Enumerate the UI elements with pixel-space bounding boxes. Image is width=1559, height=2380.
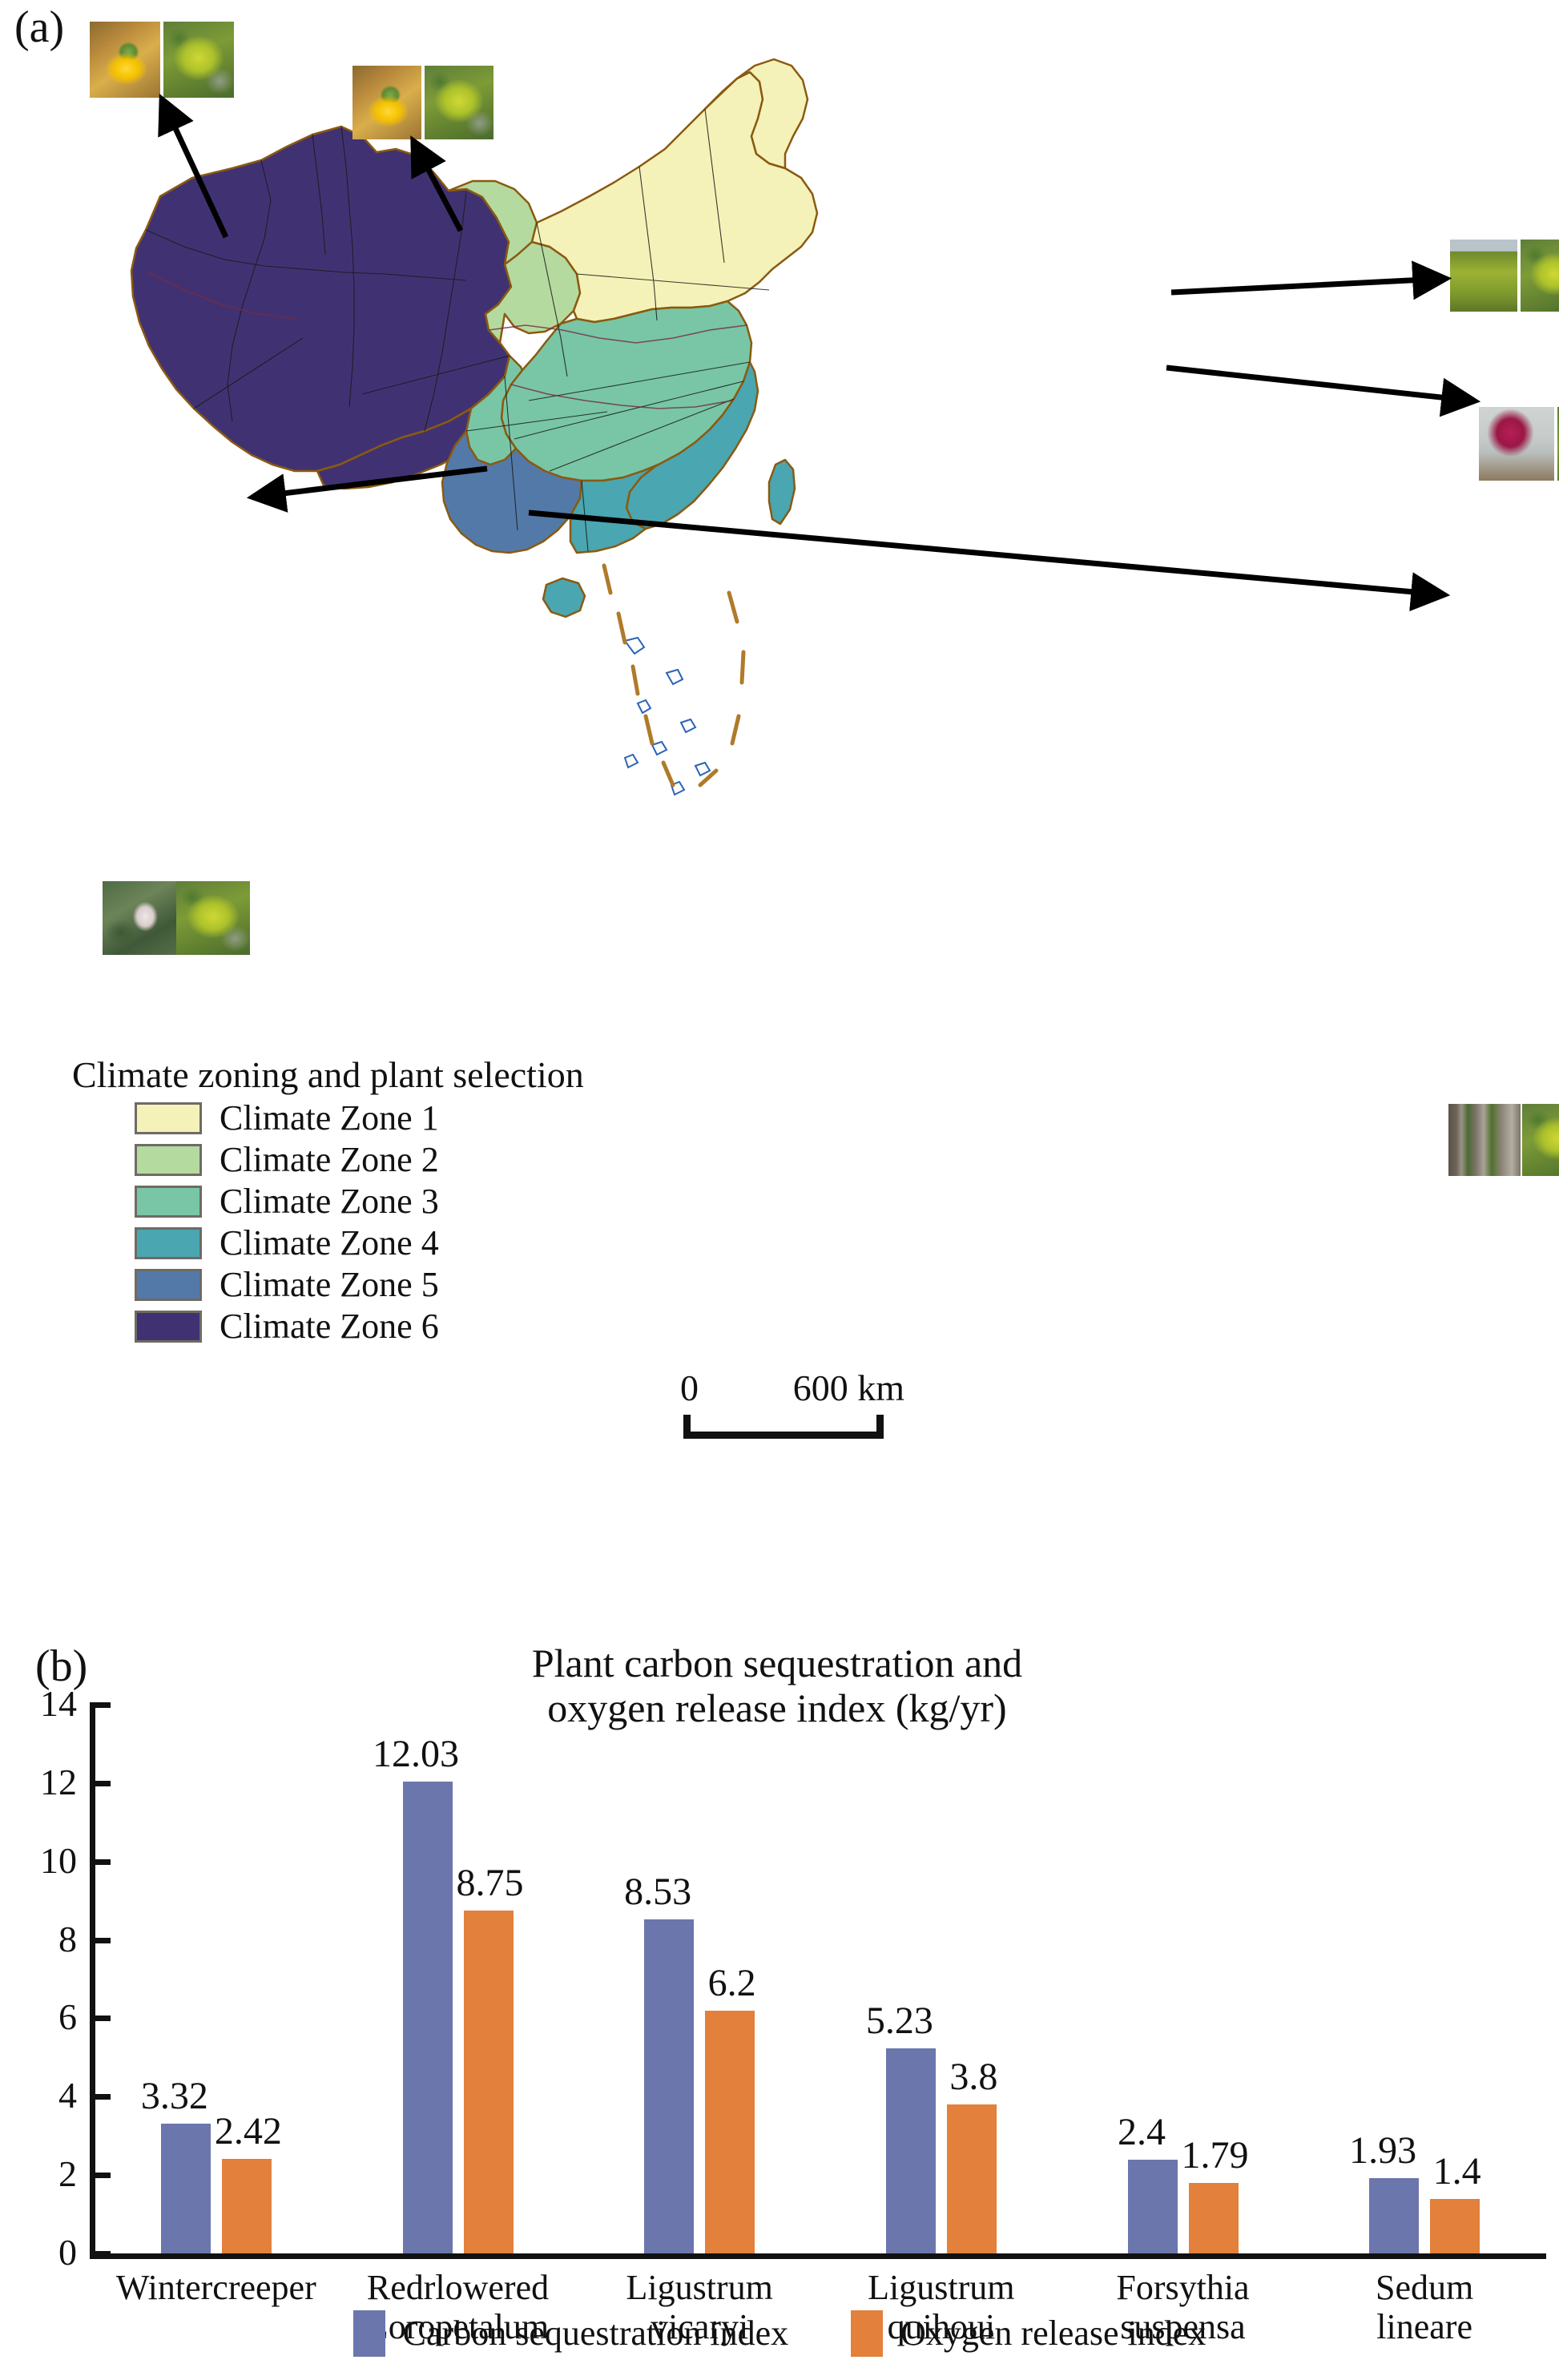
bar-value-carbon-2: 8.53 bbox=[624, 1873, 691, 1911]
bar-value-oxygen-4: 1.79 bbox=[1182, 2136, 1249, 2175]
y-tick-10 bbox=[90, 1859, 111, 1865]
bar-oxygen-2[interactable] bbox=[705, 2011, 755, 2253]
chart-legend-label-oxygen: Oxygen release index bbox=[900, 2316, 1206, 2351]
bar-carbon-0[interactable] bbox=[161, 2124, 211, 2253]
category-label-0: Wintercreeper bbox=[91, 2268, 342, 2307]
bar-carbon-3[interactable] bbox=[886, 2048, 936, 2253]
category-label-4-line-0: Forsythia bbox=[1057, 2268, 1309, 2307]
bar-value-carbon-3: 5.23 bbox=[866, 2002, 933, 2040]
bar-oxygen-1[interactable] bbox=[464, 1911, 514, 2253]
category-label-5-line-0: Sedum bbox=[1299, 2268, 1550, 2307]
y-tick-label-10: 10 bbox=[3, 1842, 77, 1879]
bar-value-oxygen-0: 2.42 bbox=[215, 2112, 282, 2151]
y-tick-6 bbox=[90, 2016, 111, 2021]
bar-oxygen-3[interactable] bbox=[947, 2104, 997, 2253]
chart-legend-swatch-carbon bbox=[353, 2310, 385, 2357]
bar-carbon-1[interactable] bbox=[403, 1782, 453, 2253]
bar-value-carbon-0: 3.32 bbox=[141, 2077, 208, 2116]
y-tick-0 bbox=[90, 2251, 111, 2257]
y-tick-4 bbox=[90, 2094, 111, 2100]
bar-carbon-5[interactable] bbox=[1369, 2178, 1419, 2253]
chart-plot-region: 024681012143.322.42Wintercreeper12.038.7… bbox=[0, 0, 1559, 2380]
y-tick-8 bbox=[90, 1938, 111, 1943]
y-tick-12 bbox=[90, 1781, 111, 1786]
bar-carbon-2[interactable] bbox=[644, 1919, 694, 2253]
bar-oxygen-4[interactable] bbox=[1189, 2183, 1239, 2253]
bar-value-oxygen-5: 1.4 bbox=[1433, 2152, 1481, 2191]
bar-value-oxygen-2: 6.2 bbox=[708, 1964, 756, 2003]
y-tick-14 bbox=[90, 1702, 111, 1708]
bar-value-oxygen-1: 8.75 bbox=[457, 1864, 524, 1903]
bar-value-carbon-4: 2.4 bbox=[1118, 2113, 1166, 2152]
bar-oxygen-0[interactable] bbox=[222, 2159, 272, 2253]
category-label-1-line-0: Redrlowered bbox=[332, 2268, 584, 2307]
chart-legend-item-carbon[interactable]: Carbon sequestration index bbox=[353, 2310, 788, 2357]
bar-carbon-4[interactable] bbox=[1128, 2160, 1178, 2253]
chart-legend: Carbon sequestration index Oxygen releas… bbox=[0, 2310, 1559, 2357]
y-tick-label-6: 6 bbox=[3, 1999, 77, 2036]
chart-legend-item-oxygen[interactable]: Oxygen release index bbox=[851, 2310, 1206, 2357]
category-label-3-line-0: Ligustrum bbox=[816, 2268, 1067, 2307]
y-tick-label-12: 12 bbox=[3, 1764, 77, 1801]
category-label-2-line-0: Ligustrum bbox=[574, 2268, 825, 2307]
y-tick-2 bbox=[90, 2173, 111, 2178]
chart-legend-label-carbon: Carbon sequestration index bbox=[403, 2316, 788, 2351]
y-tick-label-4: 4 bbox=[3, 2077, 77, 2114]
y-tick-label-2: 2 bbox=[3, 2156, 77, 2193]
y-tick-label-0: 0 bbox=[3, 2234, 77, 2271]
category-label-0-line-0: Wintercreeper bbox=[91, 2268, 342, 2307]
bar-oxygen-5[interactable] bbox=[1430, 2199, 1480, 2254]
bar-value-carbon-5: 1.93 bbox=[1349, 2132, 1416, 2170]
bar-value-oxygen-3: 3.8 bbox=[949, 2058, 997, 2096]
bar-value-carbon-1: 12.03 bbox=[373, 1735, 459, 1774]
y-tick-label-14: 14 bbox=[3, 1685, 77, 1722]
chart-legend-swatch-oxygen bbox=[851, 2310, 883, 2357]
y-tick-label-8: 8 bbox=[3, 1921, 77, 1958]
